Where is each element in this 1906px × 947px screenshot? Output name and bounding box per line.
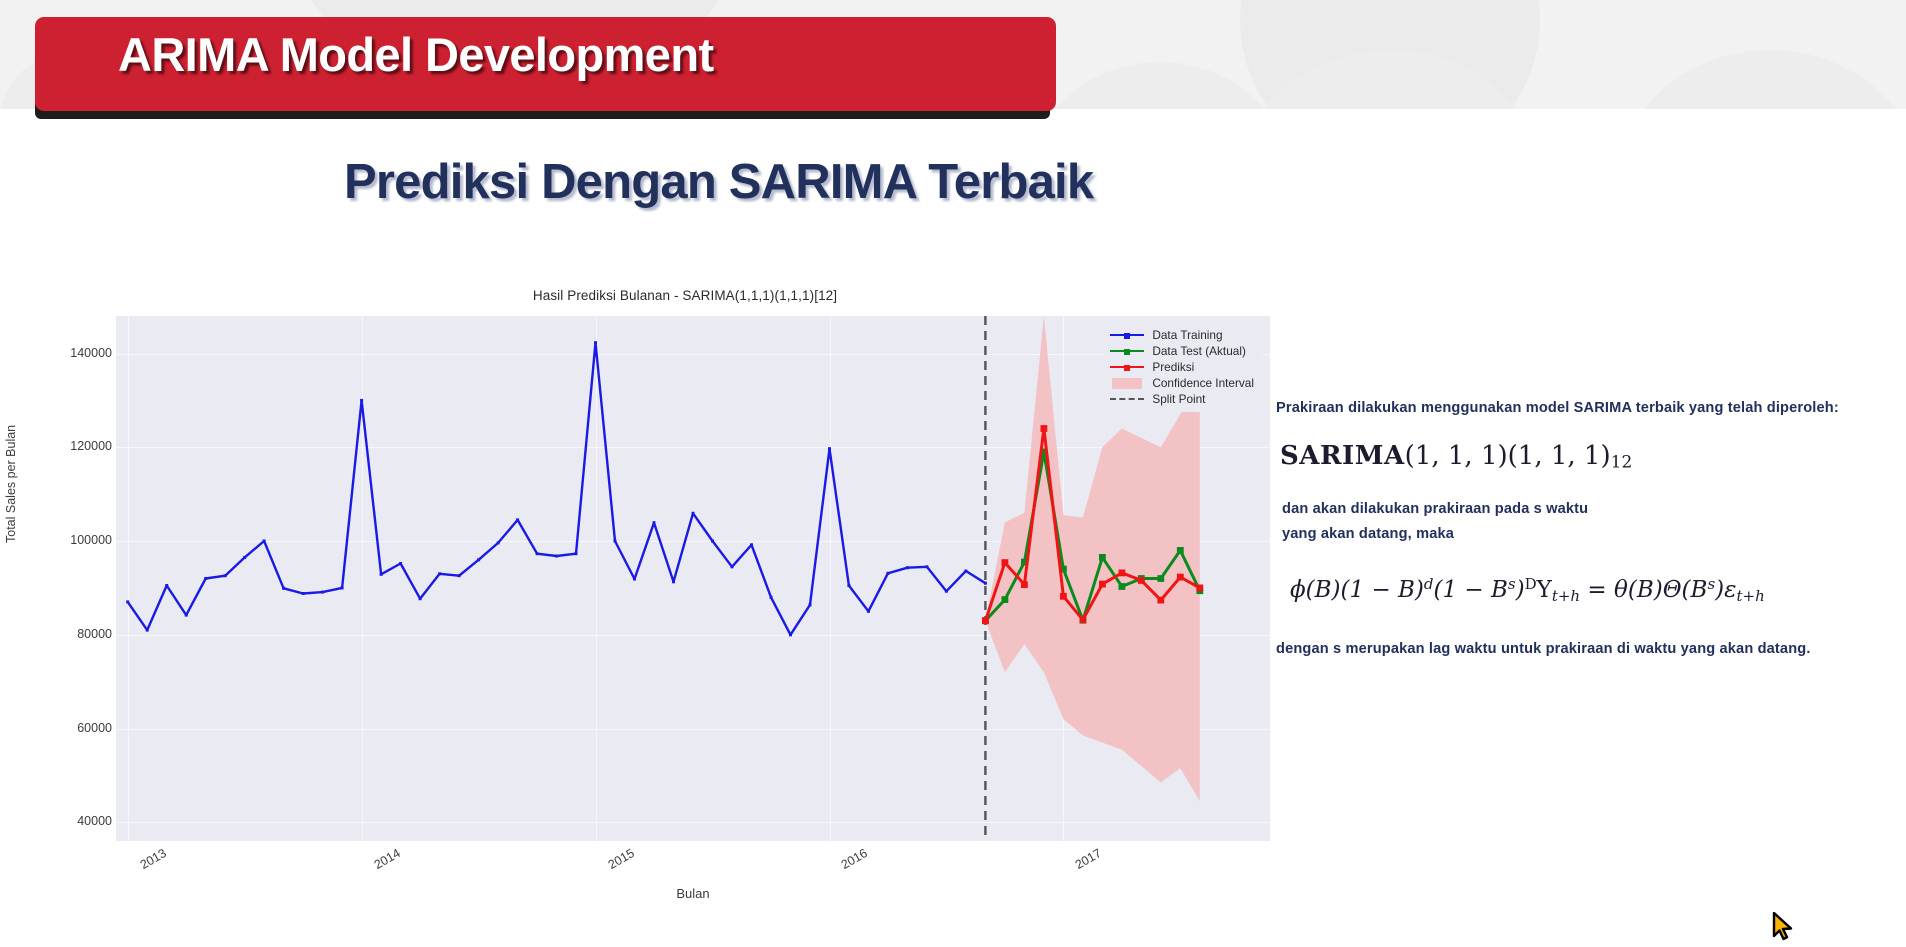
- legend-entry: Data Training: [1110, 327, 1254, 343]
- series-marker: [906, 566, 909, 569]
- formula2-D: D: [1525, 575, 1537, 593]
- formula2-Y-sub: t+h: [1552, 587, 1580, 605]
- series-marker: [1138, 577, 1145, 584]
- series-marker: [1002, 596, 1009, 603]
- series-marker: [458, 574, 461, 577]
- series-marker: [165, 584, 168, 587]
- y-tick-label: 100000: [26, 533, 112, 547]
- series-marker: [828, 447, 831, 450]
- legend-swatch-icon: [1110, 329, 1144, 341]
- series-marker: [847, 584, 850, 587]
- formula2-close1: ): [1516, 577, 1525, 603]
- x-tick-label: 2015: [605, 846, 636, 872]
- chart-y-axis-ticks: 400006000080000100000120000140000: [26, 316, 112, 841]
- legend-label: Confidence Interval: [1152, 376, 1254, 390]
- formula2-equals: =: [1580, 577, 1614, 603]
- series-marker: [1060, 593, 1067, 600]
- series-marker: [653, 521, 656, 524]
- explanation-paragraph-3: dengan s merupakan lag waktu untuk praki…: [1276, 637, 1904, 662]
- series-marker: [302, 592, 305, 595]
- explanation-paragraph-2-line-2: yang akan datang, maka: [1282, 522, 1904, 547]
- series-marker: [555, 555, 558, 558]
- series-marker: [925, 565, 928, 568]
- series-marker: [282, 587, 285, 590]
- explanation-paragraph-2-line-1: dan akan dilakukan prakiraan pada s wakt…: [1282, 497, 1904, 522]
- series-marker: [1099, 581, 1106, 588]
- series-marker: [945, 590, 948, 593]
- series-marker: [984, 582, 987, 585]
- formula2-theta: θ(B)Θ(B: [1614, 577, 1707, 603]
- series-line-data-training: [128, 343, 986, 635]
- series-marker: [789, 633, 792, 636]
- legend-label: Split Point: [1152, 392, 1205, 406]
- series-marker: [1119, 570, 1126, 577]
- series-marker: [1002, 559, 1009, 566]
- series-marker: [886, 572, 889, 575]
- chart-y-axis-label: Total Sales per Bulan: [4, 425, 18, 543]
- y-tick-label: 60000: [26, 721, 112, 735]
- formula2-Y: Y: [1537, 577, 1552, 603]
- series-marker: [692, 512, 695, 515]
- formula2-phi: ϕ(B)(1 − B): [1290, 577, 1424, 603]
- series-marker: [146, 629, 149, 632]
- x-tick-label: 2016: [839, 846, 870, 872]
- series-marker: [263, 540, 266, 543]
- legend-entry: Confidence Interval: [1110, 375, 1254, 391]
- formula2-d: d: [1424, 575, 1434, 593]
- series-marker: [731, 565, 734, 568]
- series-marker: [536, 552, 539, 555]
- series-marker: [321, 591, 324, 594]
- series-marker: [711, 540, 714, 543]
- series-marker: [964, 570, 967, 573]
- series-marker: [1080, 616, 1087, 623]
- series-marker: [185, 614, 188, 617]
- formula2-eps-sub: t+h: [1736, 587, 1764, 605]
- slide-subtitle: Prediksi Dengan SARIMA Terbaik: [344, 154, 1093, 210]
- series-marker: [516, 518, 519, 521]
- series-marker: [770, 596, 773, 599]
- legend-swatch-icon: [1110, 361, 1144, 373]
- mouse-cursor-icon: [1772, 912, 1794, 947]
- series-marker: [419, 597, 422, 600]
- x-tick-label: 2014: [371, 846, 402, 872]
- legend-swatch-icon: [1110, 377, 1144, 389]
- series-marker: [982, 617, 989, 624]
- series-marker: [243, 556, 246, 559]
- series-marker: [380, 573, 383, 576]
- formula2-epsilon: ε: [1724, 577, 1736, 603]
- formula2-close2: ): [1715, 577, 1724, 603]
- series-marker: [750, 543, 753, 546]
- y-tick-label: 120000: [26, 439, 112, 453]
- plot-series-svg: [116, 316, 1270, 841]
- sarima-backshift-formula: ϕ(B)(1 − B)d(1 − Bs)DYt+h = θ(B)Θ(Bs)εt+…: [1290, 575, 1904, 605]
- legend-entry: Split Point: [1110, 391, 1254, 407]
- chart-legend: Data TrainingData Test (Aktual)PrediksiC…: [1104, 322, 1262, 412]
- sarima-order-formula: SARIMA(1, 1, 1)(1, 1, 1)12: [1280, 441, 1904, 473]
- series-marker: [1177, 547, 1184, 554]
- series-marker: [1119, 583, 1126, 590]
- legend-entry: Prediksi: [1110, 359, 1254, 375]
- series-marker: [1157, 575, 1164, 582]
- series-marker: [1177, 574, 1184, 581]
- sarima-formula-name: SARIMA: [1280, 441, 1405, 471]
- series-marker: [1041, 425, 1048, 432]
- formula2-mid: (1 − B: [1434, 577, 1508, 603]
- y-tick-label: 40000: [26, 814, 112, 828]
- legend-entry: Data Test (Aktual): [1110, 343, 1254, 359]
- plot-area: Data TrainingData Test (Aktual)PrediksiC…: [116, 316, 1270, 841]
- series-marker: [399, 562, 402, 565]
- y-tick-label: 80000: [26, 627, 112, 641]
- series-marker: [477, 558, 480, 561]
- explanation-panel: Prakiraan dilakukan menggunakan model SA…: [1276, 396, 1904, 662]
- series-marker: [594, 341, 597, 344]
- series-marker: [1157, 597, 1164, 604]
- series-marker: [360, 399, 363, 402]
- page-title: ARIMA Model Development: [118, 27, 714, 82]
- series-marker: [809, 603, 812, 606]
- series-marker: [497, 541, 500, 544]
- series-marker: [633, 578, 636, 581]
- y-tick-label: 140000: [26, 346, 112, 360]
- series-marker: [867, 610, 870, 613]
- formula2-s1: s: [1508, 575, 1516, 593]
- chart-figure: Hasil Prediksi Bulanan - SARIMA(1,1,1)(1…: [100, 288, 1270, 898]
- chart-title: Hasil Prediksi Bulanan - SARIMA(1,1,1)(1…: [100, 288, 1270, 303]
- explanation-paragraph-2: dan akan dilakukan prakiraan pada s wakt…: [1282, 497, 1904, 547]
- chart-x-axis-ticks: 20132014201520162017: [116, 846, 1270, 886]
- formula2-s2: s: [1707, 575, 1715, 593]
- sarima-formula-orders: (1, 1, 1)(1, 1, 1): [1405, 441, 1611, 471]
- legend-swatch-icon: [1110, 393, 1144, 405]
- series-marker: [1021, 581, 1028, 588]
- x-tick-label: 2013: [137, 846, 168, 872]
- sarima-formula-season: 12: [1611, 453, 1633, 473]
- legend-label: Data Test (Aktual): [1152, 344, 1246, 358]
- chart-x-axis-label: Bulan: [116, 886, 1270, 901]
- explanation-paragraph-1: Prakiraan dilakukan menggunakan model SA…: [1276, 396, 1904, 421]
- series-marker: [1099, 554, 1106, 561]
- series-marker: [575, 552, 578, 555]
- legend-label: Prediksi: [1152, 360, 1194, 374]
- series-marker: [341, 586, 344, 589]
- series-marker: [672, 580, 675, 583]
- series-marker: [224, 574, 227, 577]
- series-marker: [438, 572, 441, 575]
- series-marker: [126, 600, 129, 603]
- x-tick-label: 2017: [1073, 846, 1104, 872]
- series-marker: [1196, 585, 1203, 592]
- legend-swatch-icon: [1110, 345, 1144, 357]
- legend-label: Data Training: [1152, 328, 1222, 342]
- series-marker: [614, 540, 617, 543]
- series-marker: [204, 577, 207, 580]
